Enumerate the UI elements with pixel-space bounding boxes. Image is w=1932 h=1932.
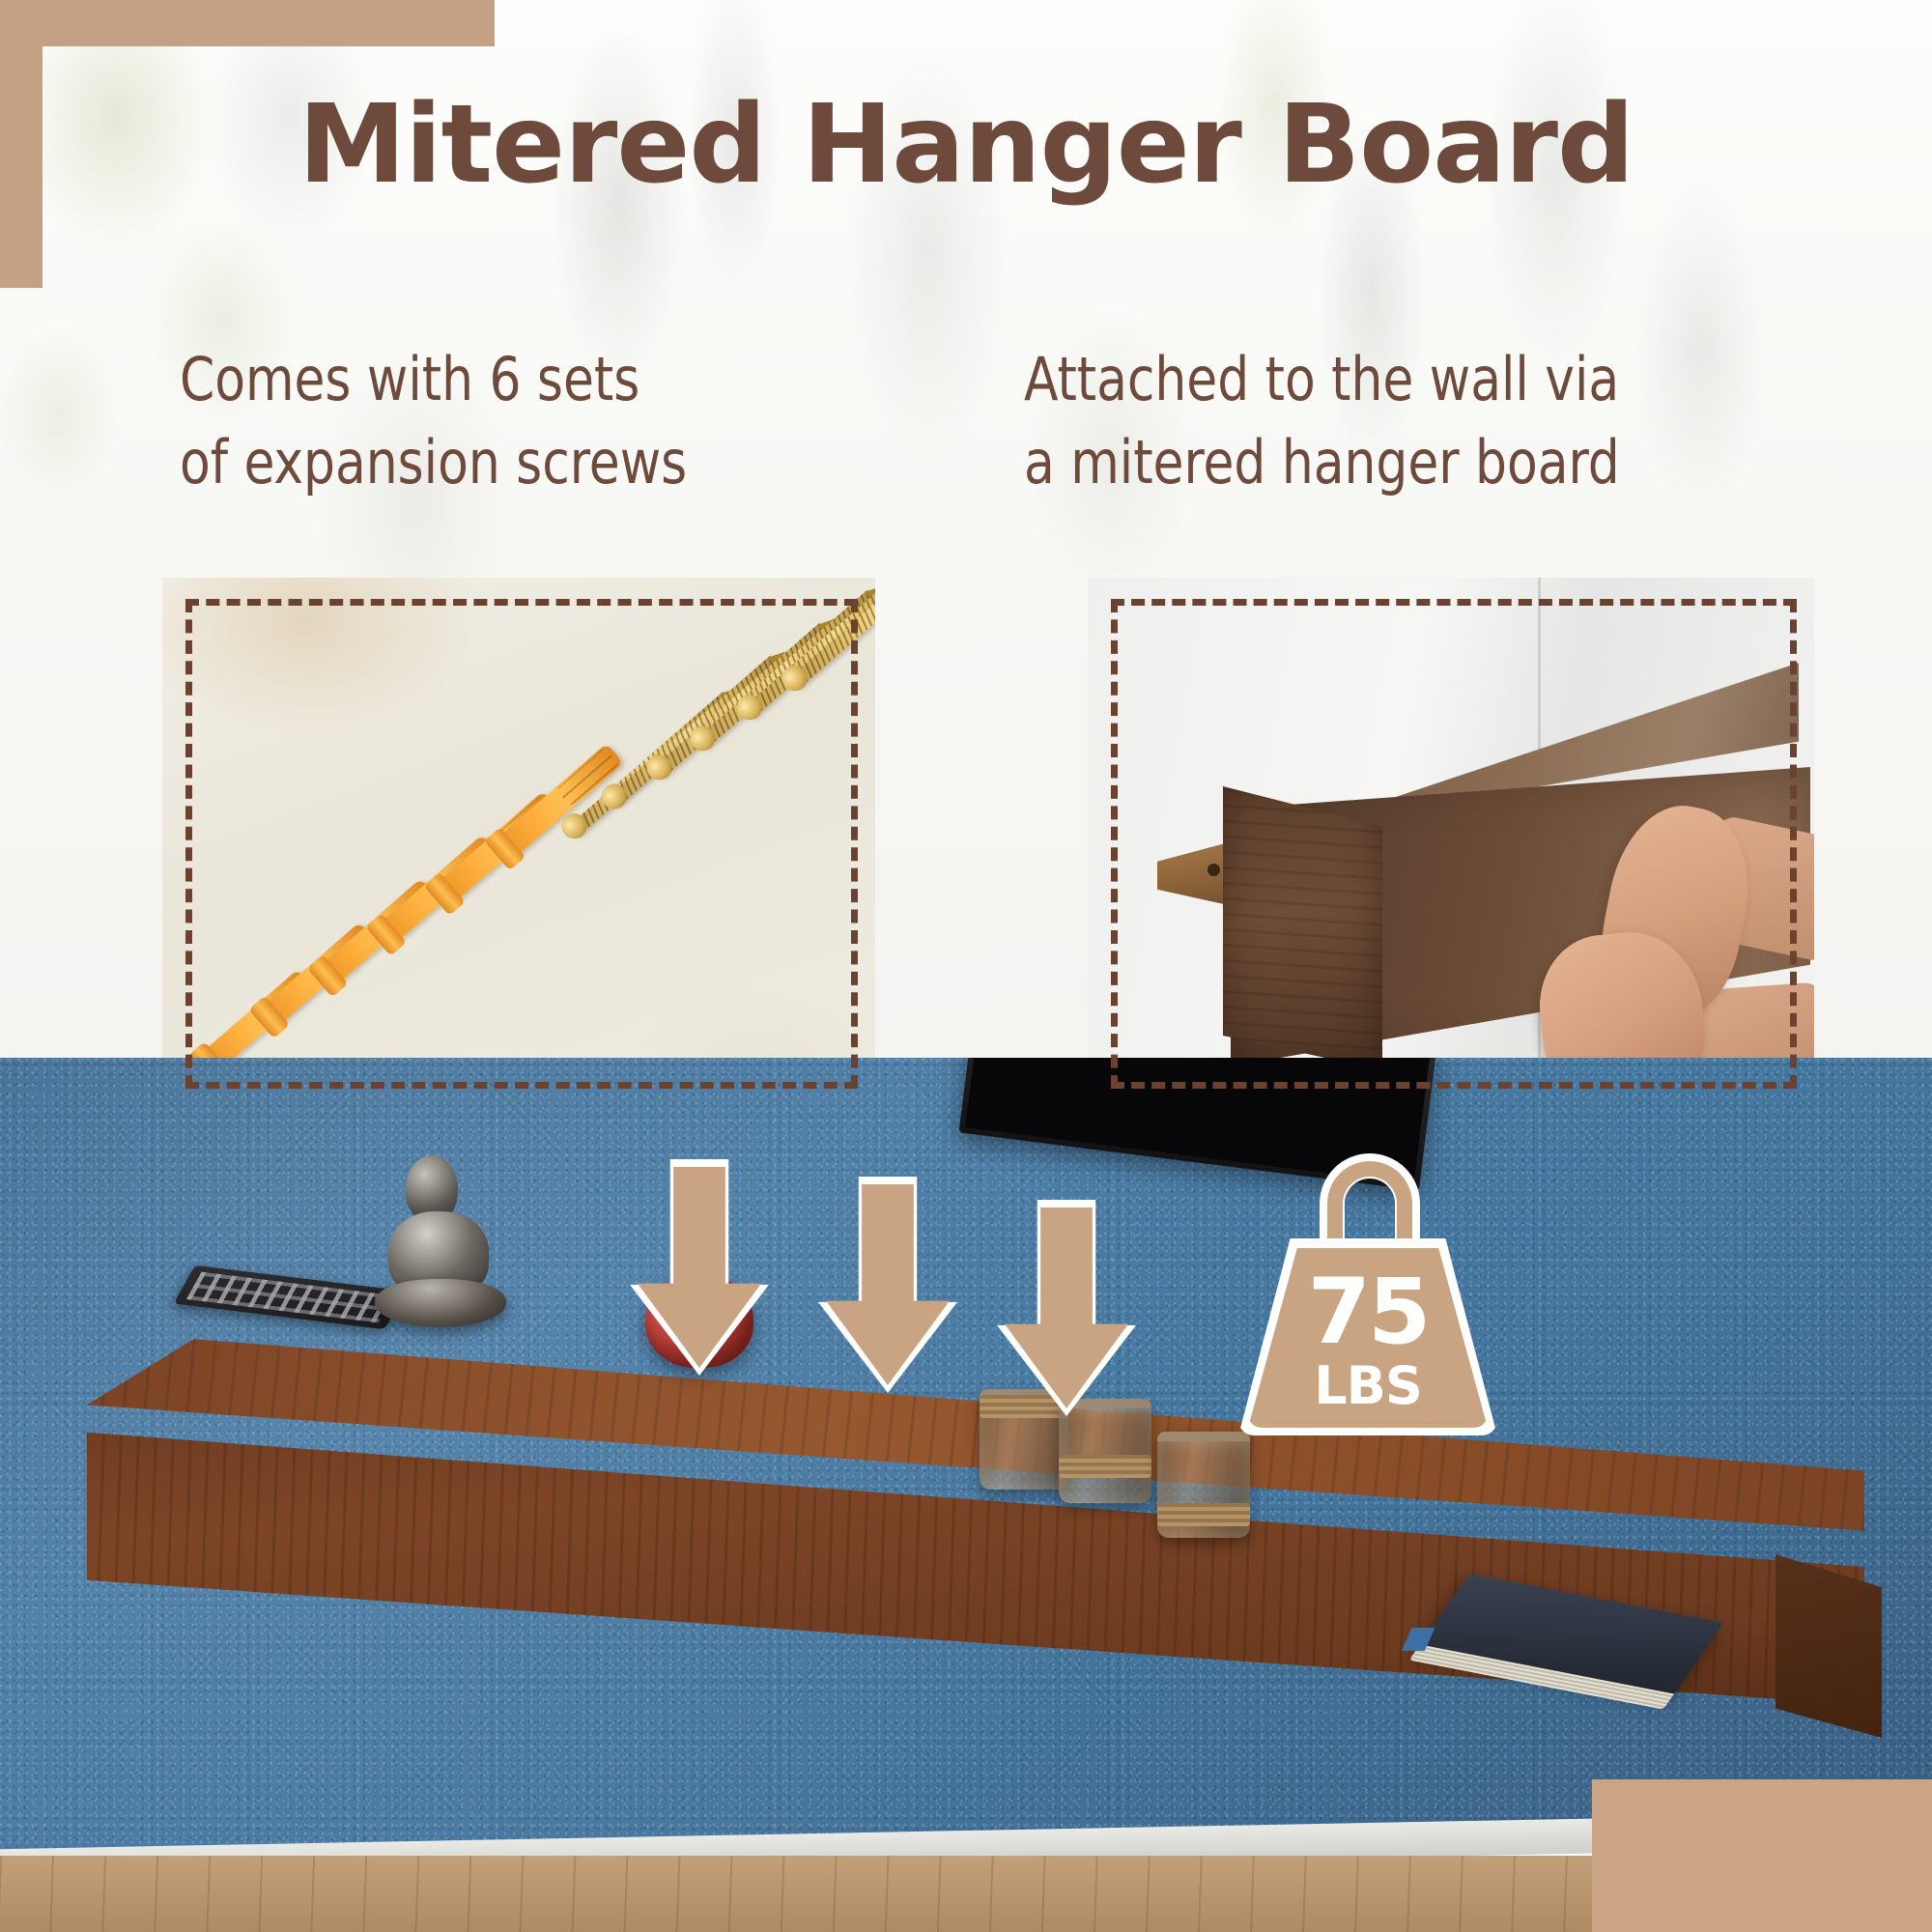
page-title: Mitered Hanger Board: [0, 89, 1932, 203]
feature-caption-screws: Comes with 6 sets of expansion screws: [180, 338, 863, 503]
feature-photo-hanger-board: [1088, 578, 1814, 1106]
bronze-meditating-statue: [373, 1155, 508, 1321]
weight-unit: LBS: [1238, 1360, 1497, 1412]
weight-value: 75: [1238, 1267, 1497, 1358]
header-background: Mitered Hanger Board Comes with 6 sets o…: [0, 0, 1932, 1063]
corner-block-bottom-right: [1592, 1779, 1932, 1932]
shelf-end-face: [1223, 781, 1382, 1070]
rope-wrapped-glass-jar: [1157, 1432, 1250, 1538]
feature-photo-screws: [162, 578, 875, 1106]
rope-wrapped-glass-jar: [980, 1389, 1068, 1490]
corner-frame-top-bar: [0, 0, 495, 46]
feature-caption-hanger-board: Attached to the wall via a mitered hange…: [1024, 338, 1814, 503]
rope-wrapped-glass-jar: [1059, 1399, 1151, 1503]
weight-capacity-badge: 75 LBS: [1238, 1153, 1497, 1435]
